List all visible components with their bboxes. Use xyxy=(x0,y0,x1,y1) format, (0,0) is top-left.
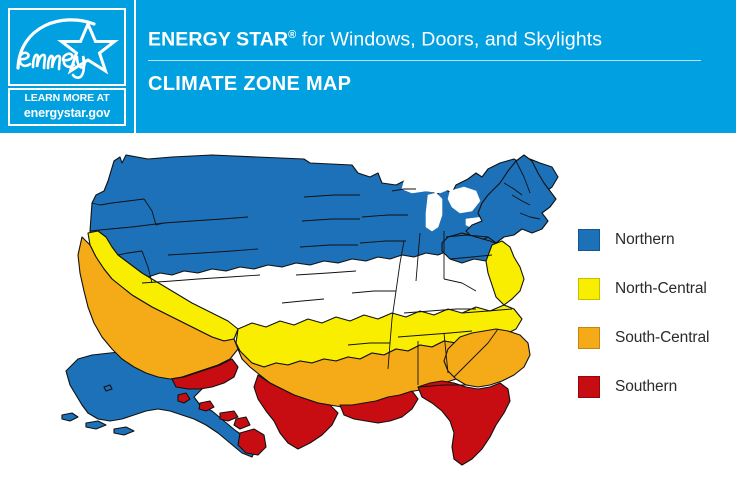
zone-southern-florida xyxy=(418,381,510,465)
legend-swatch-northern xyxy=(578,229,600,251)
page-header: LEARN MORE AT energystar.gov ENERGY STAR… xyxy=(0,0,736,133)
page-title-brand: ENERGY STAR xyxy=(148,29,288,51)
page-title: ENERGY STAR® for Windows, Doors, and Sky… xyxy=(148,22,713,53)
legend-item-south-central[interactable]: South-Central xyxy=(578,327,728,349)
legend-label-north-central: North-Central xyxy=(615,280,707,298)
legend-item-northern[interactable]: Northern xyxy=(578,229,728,251)
header-titles: ENERGY STAR® for Windows, Doors, and Sky… xyxy=(148,22,713,96)
alaska-aleutians-3 xyxy=(114,427,134,435)
legend-label-northern: Northern xyxy=(615,231,675,249)
legend-swatch-north-central xyxy=(578,278,600,300)
zone-southern-hawaii-maui xyxy=(234,417,250,429)
alaska-aleutians-2 xyxy=(86,421,106,429)
legend-label-south-central: South-Central xyxy=(615,329,709,347)
page-title-rest: for Windows, Doors, and Skylights xyxy=(296,29,602,51)
header-vertical-divider xyxy=(134,0,136,133)
map-container: Northern North-Central South-Central Sou… xyxy=(0,133,736,485)
energy-star-logo: LEARN MORE AT energystar.gov xyxy=(8,8,126,126)
lake-superior xyxy=(402,177,450,193)
logo-learn-more-line1: LEARN MORE AT xyxy=(10,92,124,105)
us-climate-zone-map[interactable] xyxy=(52,133,572,473)
title-divider xyxy=(148,60,701,61)
alaska-aleutians-1 xyxy=(62,413,78,421)
map-legend: Northern North-Central South-Central Sou… xyxy=(578,229,728,398)
logo-learn-more-url: energystar.gov xyxy=(10,105,124,121)
legend-label-southern: Southern xyxy=(615,378,677,396)
zone-southern-hawaii-oahu xyxy=(199,401,214,411)
legend-item-north-central[interactable]: North-Central xyxy=(578,278,728,300)
legend-swatch-south-central xyxy=(578,327,600,349)
energy-star-logo-icon xyxy=(8,8,126,86)
page-subtitle: CLIMATE ZONE MAP xyxy=(148,73,713,96)
logo-learn-more[interactable]: LEARN MORE AT energystar.gov xyxy=(8,88,126,126)
legend-item-southern[interactable]: Southern xyxy=(578,376,728,398)
legend-swatch-southern xyxy=(578,376,600,398)
zone-north-central-midatlantic xyxy=(486,241,524,305)
